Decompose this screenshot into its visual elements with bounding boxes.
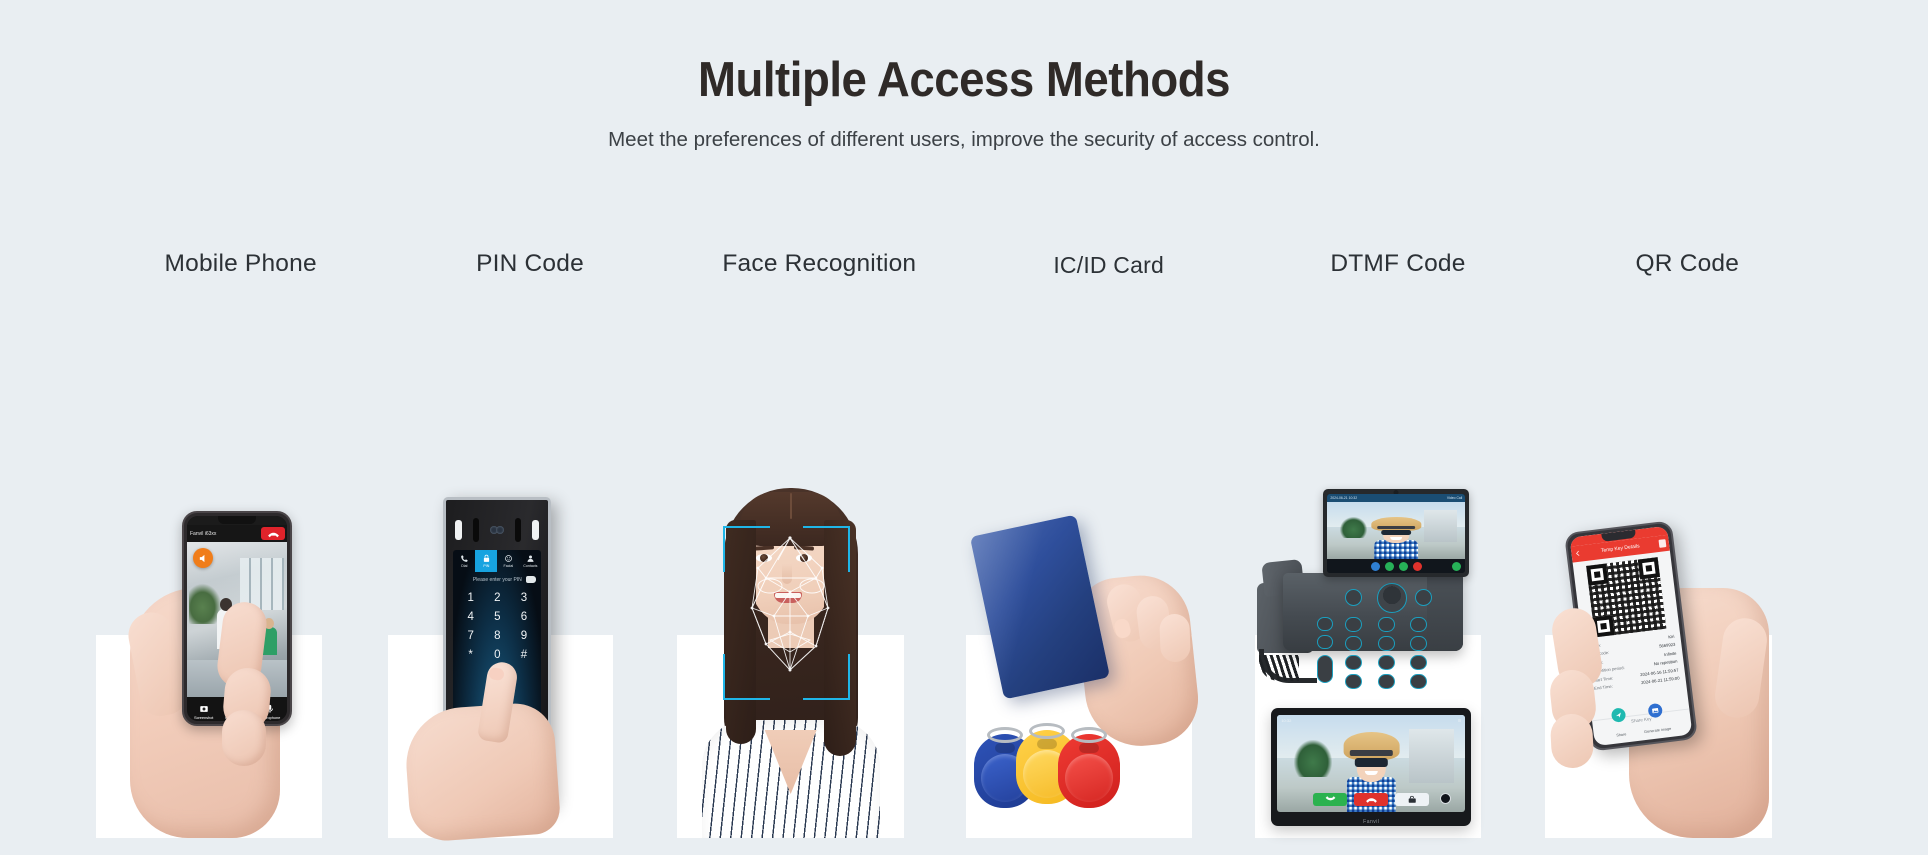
- method-mobile-phone[interactable]: Mobile Phone Fanvil i63xx: [96, 250, 385, 855]
- desk-phone-and-tablet: 2024-06-21 10:32 Video Call: [1257, 483, 1485, 838]
- sensor-array: [446, 514, 548, 544]
- intercom-tab-bar: Dial PIN Facial: [453, 550, 541, 572]
- access-card: [970, 515, 1110, 700]
- function-key[interactable]: [1317, 617, 1333, 631]
- scan-bracket-top-left: [723, 526, 770, 572]
- card-and-fobs-photo: [964, 478, 1196, 838]
- hangup-button[interactable]: [1354, 793, 1388, 806]
- method-label-mobile-phone: Mobile Phone: [96, 250, 385, 278]
- camera-lens-icon: [496, 526, 504, 534]
- function-key[interactable]: [1317, 635, 1333, 649]
- method-label-dtmf-code: DTMF Code: [1253, 250, 1542, 278]
- caller-name: Fanvil i63xx: [190, 531, 216, 537]
- tab-pin[interactable]: PIN: [475, 550, 497, 572]
- method-image-ic-id-card: [964, 478, 1196, 838]
- unlock-button[interactable]: [1395, 793, 1429, 806]
- tablet-status-bar: 10:32 ☰: [1277, 715, 1465, 725]
- fob-hole: [1079, 743, 1099, 753]
- share-button[interactable]: Share: [1611, 707, 1629, 741]
- answer-button[interactable]: [1385, 562, 1394, 571]
- building-decor: [1409, 729, 1454, 783]
- phone-base: [1283, 573, 1463, 651]
- method-image-face-recognition: [675, 478, 907, 838]
- tablet-screen: 10:32 ☰: [1277, 715, 1465, 812]
- sunglasses-decor: [1381, 530, 1411, 535]
- pin-hint: Please enter your PIN: [453, 572, 541, 587]
- page-header: Multiple Access Methods Meet the prefere…: [0, 0, 1928, 152]
- qr-code-image: [1586, 557, 1666, 637]
- keypad-key[interactable]: [1410, 674, 1427, 689]
- tab-dial-label: Dial: [461, 564, 467, 568]
- key-ring-icon: [1071, 727, 1107, 743]
- sunglasses-decor: [1354, 758, 1388, 767]
- keypad-key[interactable]: [1378, 636, 1395, 651]
- qr-finder-top-left: [1586, 564, 1608, 586]
- answer-button[interactable]: [1313, 793, 1347, 806]
- method-ic-id-card[interactable]: IC/ID Card: [964, 250, 1253, 855]
- navigation-ring[interactable]: [1377, 583, 1407, 613]
- screenshot-icon: [199, 704, 209, 714]
- hand-holding-qr-phone: Temp Key Details Nam: [1543, 480, 1775, 838]
- keypad-key[interactable]: 4: [457, 608, 484, 627]
- hair-part: [790, 493, 792, 519]
- method-label-ic-id-card: IC/ID Card: [964, 252, 1253, 279]
- ip-desk-phone: 2024-06-21 10:32 Video Call: [1257, 483, 1469, 683]
- hangup-icon[interactable]: [261, 527, 285, 540]
- speaker-icon[interactable]: [193, 548, 213, 568]
- hat-band-decor: [1350, 750, 1393, 756]
- keypad-key[interactable]: [1345, 674, 1362, 689]
- method-image-dtmf-code: 2024-06-21 10:32 Video Call: [1253, 478, 1485, 838]
- tree-decor: [1294, 740, 1332, 777]
- phone-icon: [460, 554, 469, 563]
- tab-facial-label: Facial: [504, 564, 514, 568]
- tablet-time: 10:32: [1281, 718, 1291, 723]
- phone-display: 2024-06-21 10:32 Video Call: [1323, 489, 1469, 577]
- keypad-key[interactable]: 2: [484, 589, 511, 608]
- keypad-key[interactable]: *: [457, 646, 484, 665]
- method-pin-code[interactable]: PIN Code: [385, 250, 674, 855]
- key-ring-icon: [987, 727, 1023, 743]
- keypad-key[interactable]: 9: [511, 627, 538, 646]
- keypad-key[interactable]: #: [511, 646, 538, 665]
- lcd-time: 2024-06-21 10:32: [1330, 496, 1357, 500]
- indoor-monitor-tablet: 10:32 ☰: [1271, 708, 1471, 826]
- speaker-button[interactable]: [1399, 562, 1408, 571]
- method-label-qr-code: QR Code: [1543, 250, 1832, 278]
- unlock-button[interactable]: [1452, 562, 1461, 571]
- key-ring-icon: [1029, 723, 1065, 739]
- method-image-mobile-phone: Fanvil i63xx: [96, 478, 328, 838]
- back-icon[interactable]: [1574, 549, 1582, 557]
- detail-value: 5669923: [1659, 642, 1676, 649]
- hangup-icon: [1365, 795, 1378, 804]
- share-actions: Share Generate image: [1591, 700, 1692, 745]
- tab-pin-label: PIN: [483, 564, 489, 568]
- straw-hat-decor: [1371, 517, 1421, 531]
- hand-holding-phone: Fanvil i63xx: [124, 480, 314, 838]
- keypad-key[interactable]: 6: [511, 608, 538, 627]
- generate-image-button[interactable]: Generate image: [1641, 702, 1672, 738]
- access-methods-list: Mobile Phone Fanvil i63xx: [96, 250, 1832, 855]
- page-subtitle: Meet the preferences of different users,…: [0, 128, 1928, 152]
- finger-shape: [222, 710, 266, 766]
- finger-shape: [1159, 613, 1191, 662]
- share-label: Share: [1616, 732, 1627, 737]
- qr-finder-top-right: [1637, 557, 1659, 579]
- lock-icon: [482, 554, 491, 563]
- keypad-key[interactable]: 7: [457, 627, 484, 646]
- notch: [218, 516, 256, 524]
- hangup-button[interactable]: [1413, 562, 1422, 571]
- share-icon: [1611, 707, 1627, 723]
- keypad-key[interactable]: [1378, 674, 1395, 689]
- detail-value: Kiri: [1668, 633, 1675, 639]
- volume-key[interactable]: [1317, 655, 1333, 683]
- hat-band-decor: [1377, 526, 1415, 529]
- method-image-qr-code: Temp Key Details Nam: [1543, 478, 1775, 838]
- keypad-key[interactable]: 1: [457, 589, 484, 608]
- keypad-key[interactable]: [1345, 617, 1362, 632]
- screenshot-label: Screenshot: [187, 715, 220, 720]
- page-root: Multiple Access Methods Meet the prefere…: [0, 0, 1928, 855]
- door-intercom-with-hand: Dial PIN Facial: [407, 483, 607, 838]
- keypad-key[interactable]: [1345, 655, 1362, 670]
- tree-decor: [1340, 517, 1368, 539]
- method-qr-code[interactable]: QR Code Temp Key Details: [1543, 250, 1832, 855]
- contacts-icon: [526, 554, 535, 563]
- method-image-pin-code: Dial PIN Facial: [385, 478, 617, 838]
- softkey-left[interactable]: [1345, 589, 1362, 606]
- tab-dial[interactable]: Dial: [453, 550, 475, 572]
- info-button[interactable]: [1371, 562, 1380, 571]
- camera-sensor-icon: [515, 518, 521, 542]
- fob-disc: [1065, 754, 1113, 802]
- keypad-key[interactable]: 8: [484, 627, 511, 646]
- call-control-bar: [1327, 559, 1465, 573]
- detail-key: End Time:: [1593, 684, 1612, 691]
- video-call-feed: [1327, 502, 1465, 559]
- fob-hole: [995, 743, 1015, 753]
- unlock-icon: [1406, 795, 1419, 804]
- key-fob-group: [974, 700, 1124, 808]
- method-label-face-recognition: Face Recognition: [675, 250, 964, 278]
- image-icon: [1647, 703, 1663, 719]
- face-icon: [504, 554, 513, 563]
- keypad-key[interactable]: [1345, 636, 1362, 651]
- app-title: Temp Key Details: [1600, 543, 1639, 554]
- tab-facial[interactable]: Facial: [497, 550, 519, 572]
- dress-decor: [1374, 540, 1418, 559]
- building-decor: [1424, 510, 1457, 542]
- temp-key-detail-list: Name: Kiri PIN Code: 5669923 Times: Infi…: [1588, 632, 1680, 693]
- method-dtmf-code[interactable]: DTMF Code: [1253, 250, 1542, 855]
- keypad-key[interactable]: [1410, 636, 1427, 651]
- ir-led-icon: [455, 520, 462, 540]
- keypad-key[interactable]: 3: [511, 589, 538, 608]
- lcd-status: Video Call: [1447, 496, 1462, 500]
- keypad-key[interactable]: 5: [484, 608, 511, 627]
- generate-image-label: Generate image: [1644, 727, 1672, 734]
- detail-value: 2024-06-21 11:59:00: [1641, 676, 1680, 686]
- function-keys[interactable]: [1317, 617, 1333, 649]
- finger-shape: [1549, 713, 1594, 769]
- screenshot-button[interactable]: Screenshot: [187, 704, 220, 720]
- call-top-bar: Fanvil i63xx: [187, 525, 287, 542]
- phone-cord: [1259, 649, 1317, 683]
- pin-hint-text: Please enter your PIN: [473, 577, 522, 583]
- smile-decor: [1390, 537, 1402, 540]
- key-fob-red: [1058, 734, 1120, 808]
- backspace-icon[interactable]: [526, 576, 536, 583]
- tablet-call-controls: [1277, 792, 1465, 807]
- trash-icon[interactable]: [1658, 539, 1666, 548]
- page-title: Multiple Access Methods: [67, 52, 1860, 108]
- tab-contacts-label: Contacts: [523, 564, 537, 568]
- pin-keypad[interactable]: 1 2 3 4 5 6 7 8 9 * 0 #: [453, 587, 541, 665]
- tablet-signal-icon: ☰: [1458, 718, 1462, 723]
- fob-hole: [1037, 739, 1057, 749]
- keypad-key[interactable]: [1378, 655, 1395, 670]
- lcd-status-bar: 2024-06-21 10:32 Video Call: [1327, 494, 1465, 502]
- dtmf-keypad[interactable]: [1345, 617, 1437, 689]
- visitor-figure: [1371, 517, 1421, 559]
- ir-led-icon: [532, 520, 539, 540]
- keypad-key[interactable]: [1410, 617, 1427, 632]
- phone-lcd: 2024-06-21 10:32 Video Call: [1327, 494, 1465, 573]
- scan-bracket-bottom-right: [803, 654, 850, 700]
- method-label-pin-code: PIN Code: [385, 250, 674, 278]
- keypad-key[interactable]: [1410, 655, 1427, 670]
- scan-bracket-bottom-left: [723, 654, 770, 700]
- detail-value: Infinite: [1663, 650, 1676, 656]
- answer-icon: [1324, 795, 1337, 804]
- scan-bracket-top-right: [803, 526, 850, 572]
- tab-contacts[interactable]: Contacts: [519, 550, 541, 572]
- keypad-key[interactable]: [1378, 617, 1395, 632]
- camera-sensor-icon: [473, 518, 479, 542]
- brand-label: Fanvil: [1363, 819, 1379, 825]
- method-face-recognition[interactable]: Face Recognition: [675, 250, 964, 855]
- face-scan-photo: [675, 480, 907, 838]
